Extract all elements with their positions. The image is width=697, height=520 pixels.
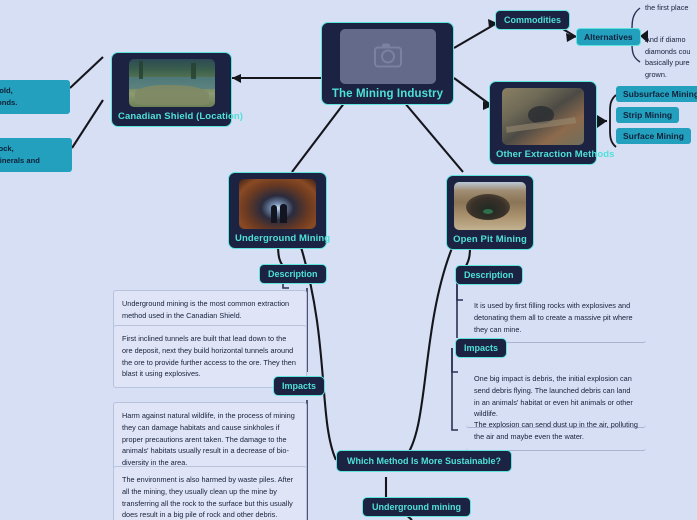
node-label: Surface Mining	[623, 131, 684, 141]
label-impacts-openpit[interactable]: Impacts	[455, 338, 507, 358]
note-openpit-impacts-2: The explosion can send dust up in the ai…	[466, 412, 646, 451]
note-text: The explosion can send dust up in the ai…	[474, 420, 638, 441]
label-description-openpit[interactable]: Description	[455, 265, 523, 285]
node-alternatives[interactable]: Alternatives	[576, 28, 641, 46]
note-text: And if diamo diamonds cou basically pure…	[645, 35, 690, 79]
edge-root-underground	[292, 102, 345, 172]
node-the-mining-industry[interactable]: The Mining Industry	[321, 22, 454, 105]
node-underground-mining[interactable]: Underground Mining	[228, 172, 327, 249]
edge-openpit-description	[466, 248, 470, 266]
note-text: Underground mining is the most common ex…	[122, 299, 289, 320]
note-line-1: e out of rock, mining minerals and	[0, 143, 66, 167]
commodity-note-rock-minerals[interactable]: e out of rock, mining minerals and	[0, 138, 72, 172]
node-strip-mining[interactable]: Strip Mining	[616, 107, 679, 123]
note-text: Harm against natural wildlife, in the pr…	[122, 411, 295, 467]
label-impacts-underground[interactable]: Impacts	[273, 376, 325, 396]
note-text: It is used by first filling rocks with e…	[474, 301, 633, 334]
edge-root-other-extraction	[454, 78, 492, 106]
alternatives-note-first-place: the first place	[645, 2, 697, 14]
node-label: Open Pit Mining	[453, 234, 527, 245]
label-description-underground[interactable]: Description	[259, 264, 327, 284]
alternatives-note-diamonds: And if diamo diamonds cou basically pure…	[645, 22, 697, 81]
label-text: Impacts	[282, 381, 316, 391]
rail-impacts-right-stem	[452, 348, 458, 430]
note-underground-description-1: Underground mining is the most common ex…	[113, 290, 307, 330]
node-label: Underground Mining	[235, 233, 320, 244]
arrow-extraction-children	[597, 115, 607, 128]
open-pit-mine-crater-photo[interactable]	[454, 182, 526, 230]
node-canadian-shield[interactable]: Canadian Shield (Location)	[111, 52, 232, 127]
node-open-pit-mining[interactable]: Open Pit Mining	[446, 175, 534, 250]
node-label: Alternatives	[584, 32, 633, 42]
open-cast-mine-aerial-photo[interactable]	[502, 88, 584, 145]
node-which-method-sustainable[interactable]: Which Method Is More Sustainable?	[336, 450, 512, 472]
node-underground-mining-answer[interactable]: Underground mining	[362, 497, 471, 517]
note-openpit-description-1: It is used by first filling rocks with e…	[466, 293, 646, 343]
mindmap-canvas[interactable]: The Mining Industry Canadian Shield (Loc…	[0, 0, 697, 520]
arrow-alternatives	[566, 33, 576, 42]
node-label: Which Method Is More Sustainable?	[347, 456, 501, 466]
label-text: Impacts	[464, 343, 498, 353]
edge-commodity-note-1	[70, 57, 103, 88]
node-label: Other Extraction Methods	[496, 149, 590, 160]
note-text: The environment is also harmed by waste …	[122, 475, 298, 520]
note-line-1: nclude gold, nd diamonds.	[0, 85, 64, 109]
node-commodities[interactable]: Commodities	[495, 10, 570, 30]
label-text: Description	[464, 270, 514, 280]
arrow-canadian-shield	[232, 74, 241, 83]
note-text: the first place	[645, 3, 688, 12]
node-other-extraction-methods[interactable]: Other Extraction Methods	[489, 81, 597, 165]
node-surface-mining[interactable]: Surface Mining	[616, 128, 691, 144]
edge-root-commodities	[454, 23, 497, 48]
mining-industry-placeholder-image[interactable]	[340, 29, 436, 84]
node-label: Subsurface Mining	[623, 89, 697, 99]
canadian-shield-landscape-photo[interactable]	[129, 59, 215, 107]
node-label: The Mining Industry	[328, 88, 447, 100]
edge-commodity-note-2	[72, 100, 103, 148]
camera-icon	[374, 46, 402, 67]
label-text: Description	[268, 269, 318, 279]
node-subsurface-mining[interactable]: Subsurface Mining	[616, 86, 697, 102]
note-text: First inclined tunnels are built that le…	[122, 334, 296, 378]
node-label: Commodities	[504, 15, 561, 25]
edge-openpit-sustainable	[404, 248, 452, 459]
node-label: Canadian Shield (Location)	[118, 111, 225, 122]
node-label: Strip Mining	[623, 110, 672, 120]
underground-mine-tunnel-photo[interactable]	[239, 179, 316, 229]
edge-root-openpit	[404, 102, 463, 172]
node-label: Underground mining	[372, 502, 461, 512]
note-underground-impacts-2: The environment is also harmed by waste …	[113, 466, 307, 520]
commodity-note-gold-diamonds[interactable]: nclude gold, nd diamonds.	[0, 80, 70, 114]
